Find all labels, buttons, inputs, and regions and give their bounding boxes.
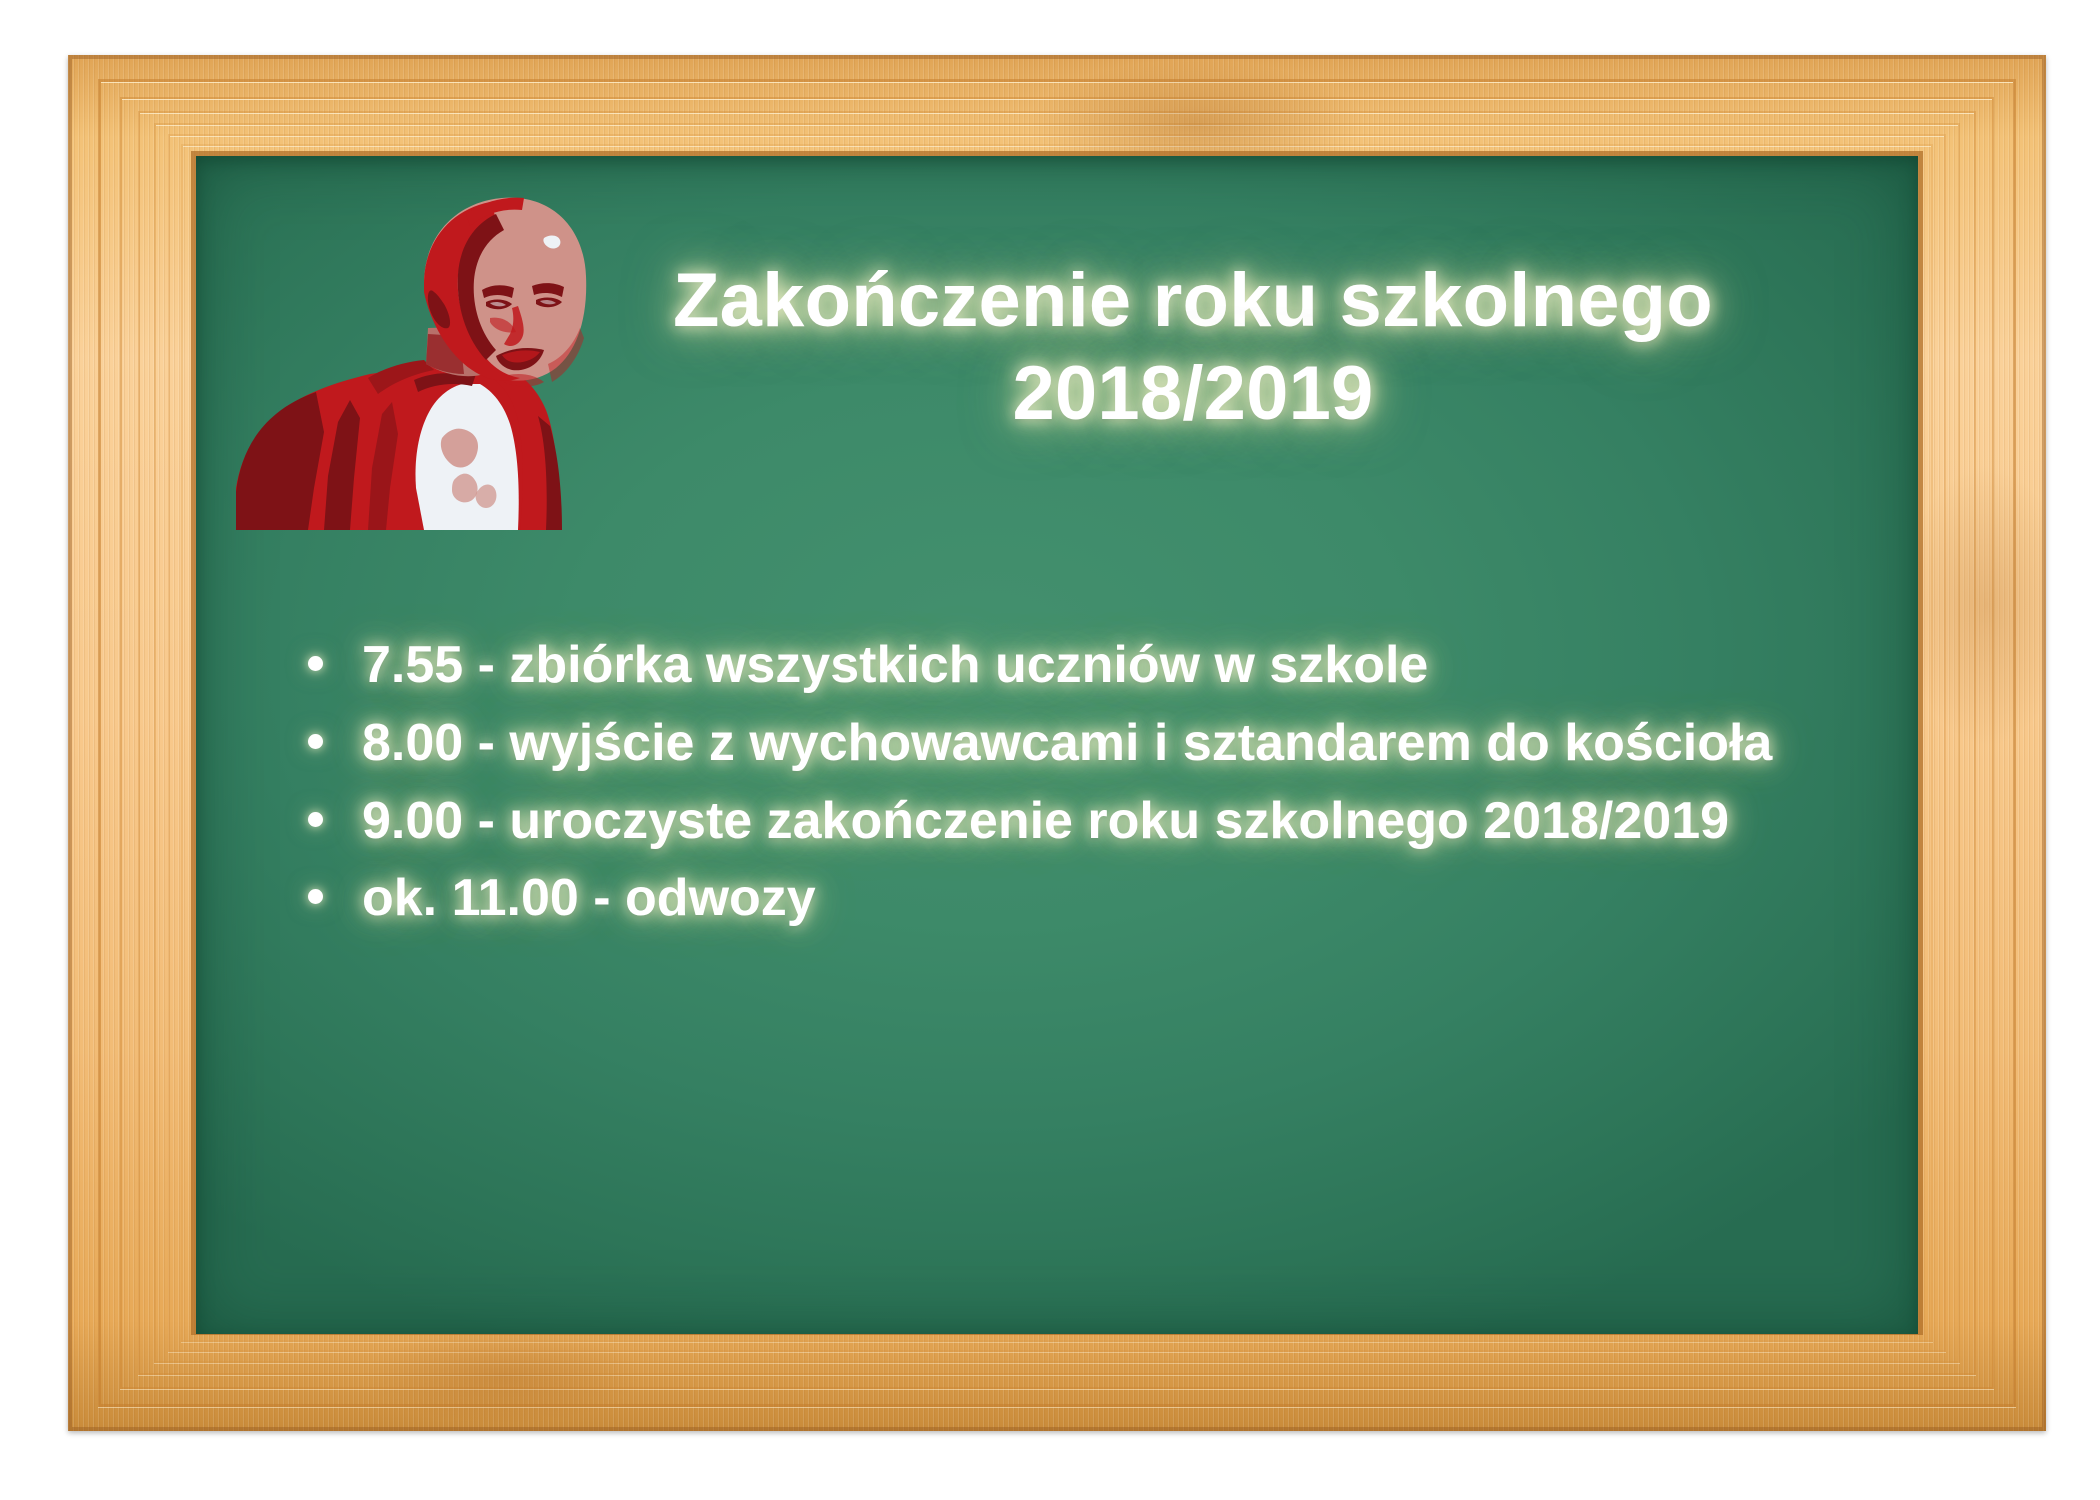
slide-canvas: Zakończenie roku szkolnego 2018/2019 7.5… (0, 0, 2100, 1500)
bullet-icon (300, 708, 362, 754)
list-item: 9.00 - uroczyste zakończenie roku szkoln… (300, 786, 1860, 858)
agenda-list: 7.55 - zbiórka wszystkich uczniów w szko… (300, 630, 1860, 941)
list-item: 8.00 - wyjście z wychowawcami i sztandar… (300, 708, 1860, 780)
title-line-1: Zakończenie roku szkolnego (528, 255, 1858, 348)
list-item: ok. 11.00 - odwozy (300, 863, 1860, 935)
list-item: 7.55 - zbiórka wszystkich uczniów w szko… (300, 630, 1860, 702)
title-line-2: 2018/2019 (528, 348, 1858, 441)
agenda-item-text: ok. 11.00 - odwozy (362, 863, 1860, 935)
bullet-icon (300, 863, 362, 909)
bullet-icon (300, 786, 362, 832)
agenda-item-text: 9.00 - uroczyste zakończenie roku szkoln… (362, 786, 1860, 858)
agenda-item-text: 8.00 - wyjście z wychowawcami i sztandar… (362, 708, 1860, 780)
slide-title: Zakończenie roku szkolnego 2018/2019 (528, 255, 1858, 440)
bullet-icon (300, 630, 362, 676)
agenda-item-text: 7.55 - zbiórka wszystkich uczniów w szko… (362, 630, 1860, 702)
